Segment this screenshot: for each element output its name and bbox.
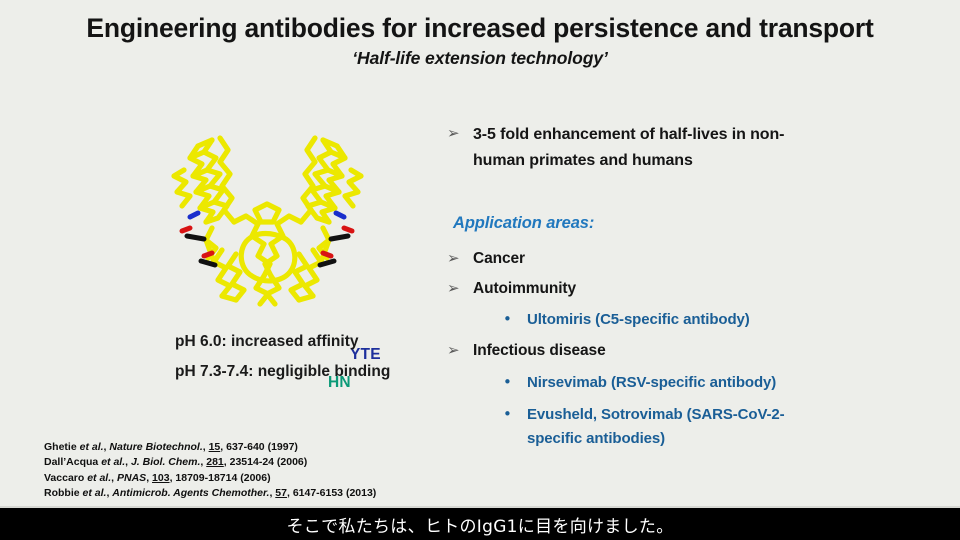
antibody-structure-figure: YTE HN — [150, 118, 400, 308]
bullet-label: Autoimmunity — [473, 277, 576, 301]
arrow-bullet-icon: ➢ — [447, 247, 473, 270]
lead-bullet-text: 3-5 fold enhancement of half-lives in no… — [473, 122, 784, 174]
slide-canvas: Engineering antibodies for increased per… — [0, 0, 960, 540]
reference-author: Ghetie — [44, 441, 77, 453]
reference-volume: 57 — [275, 487, 287, 499]
lead-bullet-line1: 3-5 fold enhancement of half-lives in no… — [473, 126, 784, 143]
reference-journal: PNAS — [117, 472, 146, 484]
sub-bullet-line2: specific antibodies) — [527, 430, 665, 447]
page-title: Engineering antibodies for increased per… — [0, 14, 960, 43]
reference-year: (1997) — [268, 441, 298, 453]
dot-bullet-icon: • — [503, 308, 527, 331]
reference-item: Ghetie et al., Nature Biotechnol., 15, 6… — [44, 440, 464, 455]
reference-year: (2006) — [240, 472, 270, 484]
sub-bullet-item-nirsevimab: • Nirsevimab (RSV-specific antibody) — [503, 371, 947, 395]
sub-bullet-label: Nirsevimab (RSV-specific antibody) — [527, 371, 776, 395]
bullet-label: Cancer — [473, 247, 525, 271]
bullet-item-autoimmunity: ➢ Autoimmunity — [447, 277, 947, 301]
reference-pages: 18709-18714 — [175, 472, 237, 484]
reference-author: Robbie — [44, 487, 80, 499]
reference-etal: et al. — [87, 472, 111, 484]
figure-column: YTE HN pH 6.0: increased affinity pH 7.3… — [150, 118, 420, 308]
reference-journal: J. Biol. Chem. — [131, 456, 200, 468]
sub-bullet-item-ultomiris: • Ultomiris (C5-specific antibody) — [503, 308, 947, 332]
reference-journal: Antimicrob. Agents Chemother. — [112, 487, 269, 499]
caption-bar: そこで私たちは、ヒトのIgG1に目を向けました。 — [0, 508, 960, 540]
reference-pages: 637-640 — [226, 441, 265, 453]
reference-journal: Nature Biotechnol. — [109, 441, 202, 453]
lead-bullet-item: ➢ 3-5 fold enhancement of half-lives in … — [447, 122, 947, 174]
page-subtitle: ‘Half-life extension technology’ — [0, 48, 960, 69]
sub-bullet-label: Evusheld, Sotrovimab (SARS-CoV-2- specif… — [527, 403, 785, 451]
caption-text: そこで私たちは、ヒトのIgG1に目を向けました。 — [287, 512, 674, 537]
lead-bullet-line2: human primates and humans — [473, 152, 693, 169]
reference-etal: et al. — [83, 487, 107, 499]
reference-volume: 15 — [209, 441, 221, 453]
arrow-bullet-icon: ➢ — [447, 277, 473, 300]
antibody-ribbon-icon — [160, 118, 375, 308]
reference-etal: et al. — [101, 456, 125, 468]
reference-author: Vaccaro — [44, 472, 84, 484]
sub-bullet-label: Ultomiris (C5-specific antibody) — [527, 308, 750, 332]
reference-item: Vaccaro et al., PNAS, 103, 18709-18714 (… — [44, 471, 464, 486]
reference-author: Dall’Acqua — [44, 456, 98, 468]
reference-pages: 6147-6153 — [293, 487, 343, 499]
content-column: ➢ 3-5 fold enhancement of half-lives in … — [447, 122, 947, 451]
sub-bullet-line1: Evusheld, Sotrovimab (SARS-CoV-2- — [527, 406, 785, 423]
dot-bullet-icon: • — [503, 403, 527, 426]
references-list: Ghetie et al., Nature Biotechnol., 15, 6… — [44, 440, 464, 502]
bullet-item-cancer: ➢ Cancer — [447, 247, 947, 271]
bullet-item-infectious-disease: ➢ Infectious disease — [447, 339, 947, 363]
reference-volume: 103 — [152, 472, 170, 484]
title-block: Engineering antibodies for increased per… — [0, 14, 960, 69]
reference-pages: 23514-24 — [230, 456, 274, 468]
dot-bullet-icon: • — [503, 371, 527, 394]
arrow-bullet-icon: ➢ — [447, 339, 473, 362]
reference-volume: 281 — [206, 456, 224, 468]
reference-item: Robbie et al., Antimicrob. Agents Chemot… — [44, 486, 464, 501]
application-areas-heading: Application areas: — [453, 214, 947, 233]
reference-year: (2013) — [346, 487, 376, 499]
reference-item: Dall’Acqua et al., J. Biol. Chem., 281, … — [44, 455, 464, 470]
bullet-label: Infectious disease — [473, 339, 606, 363]
reference-etal: et al. — [80, 441, 104, 453]
reference-year: (2006) — [277, 456, 307, 468]
sub-bullet-item-evusheld: • Evusheld, Sotrovimab (SARS-CoV-2- spec… — [503, 403, 947, 451]
arrow-bullet-icon: ➢ — [447, 122, 473, 145]
